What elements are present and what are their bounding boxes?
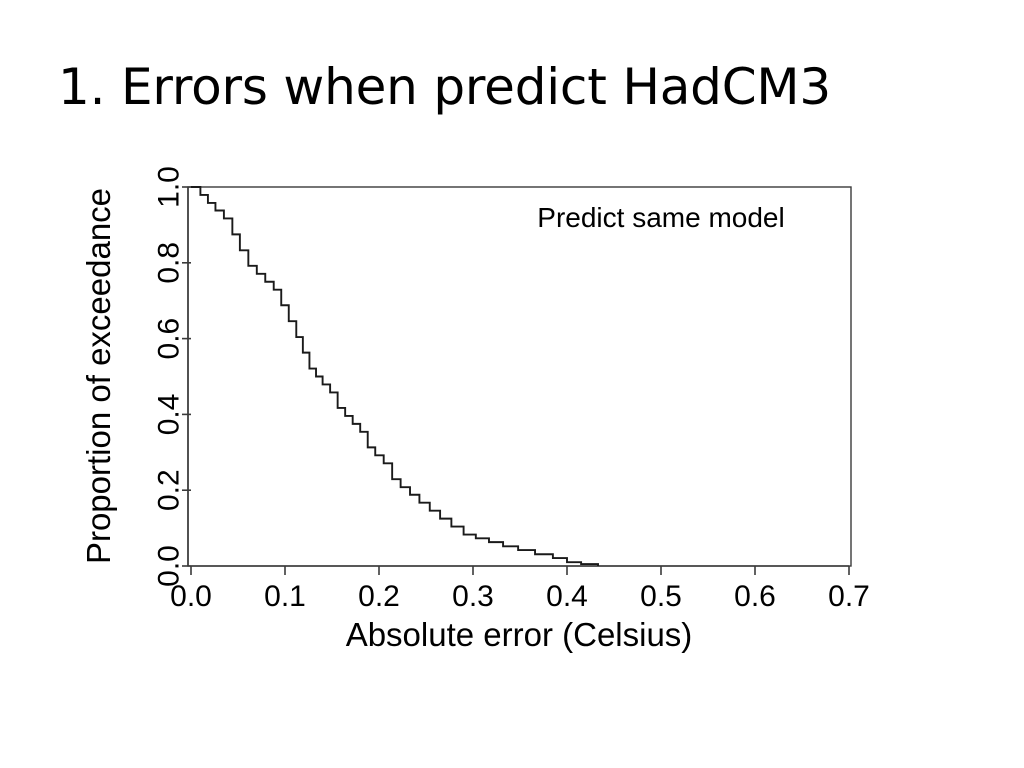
x-tick-label: 0.5 [640,580,682,613]
x-tick-label: 0.6 [734,580,776,613]
x-tick-label: 0.2 [358,580,400,613]
y-tick-label: 0.6 [153,318,186,360]
slide-canvas: 1. Errors when predict HadCM3 0.00.10.20… [0,0,1024,768]
exceedance-chart: 0.00.10.20.30.40.50.60.7 0.00.20.40.60.8… [0,150,1024,690]
y-axis-ticks: 0.00.20.40.60.81.0 [153,166,192,587]
x-axis-title: Absolute error (Celsius) [346,616,693,653]
y-tick-label: 0.2 [153,469,186,511]
plot-frame [188,187,851,566]
x-tick-label: 0.3 [452,580,494,613]
x-axis-ticks: 0.00.10.20.30.40.50.60.7 [170,566,870,613]
x-tick-label: 0.1 [264,580,306,613]
chart-annotation-label: Predict same model [537,202,784,233]
y-tick-label: 0.8 [153,242,186,284]
y-tick-label: 0.4 [153,394,186,436]
y-tick-label: 1.0 [153,166,186,208]
chart-annotations: Predict same model [537,202,784,233]
x-tick-label: 0.7 [828,580,870,613]
x-tick-label: 0.4 [546,580,588,613]
chart-svg: 0.00.10.20.30.40.50.60.7 0.00.20.40.60.8… [0,150,1024,690]
y-axis-title: Proportion of exceedance [80,188,117,564]
page-title: 1. Errors when predict HadCM3 [58,60,978,114]
exceedance-step-curve [191,187,598,566]
y-tick-label: 0.0 [153,545,186,587]
